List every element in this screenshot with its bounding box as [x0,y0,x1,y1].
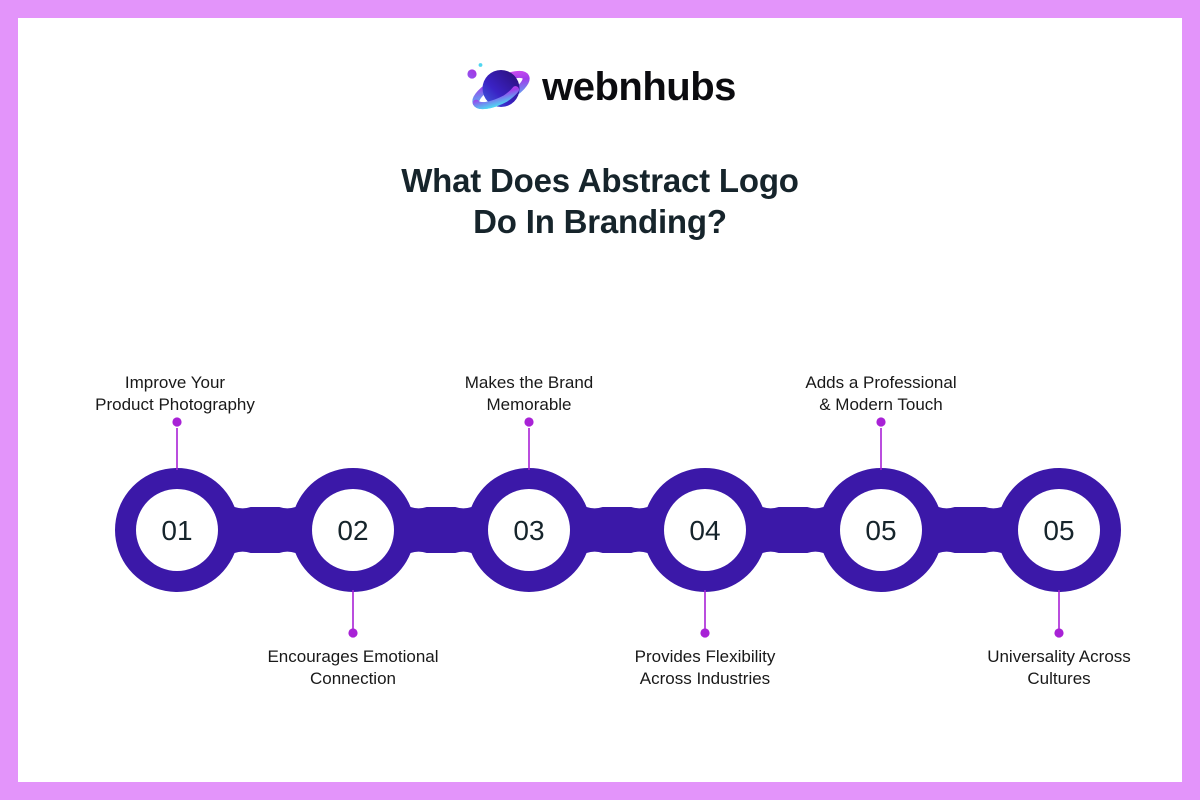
chain-outline [115,468,1121,592]
step-node-2[interactable] [312,489,394,571]
step-label-5-line-2: & Modern Touch [751,394,1011,416]
step-number-2: 02 [337,515,368,546]
step-label-5: Adds a Professional& Modern Touch [751,372,1011,416]
step-label-2-line-2: Connection [223,668,483,690]
step-label-1: Improve YourProduct Photography [45,372,305,416]
step-number-1: 01 [161,515,192,546]
connector-dot-3 [524,417,533,426]
step-label-3-line-2: Memorable [399,394,659,416]
step-label-4: Provides FlexibilityAcross Industries [575,646,835,690]
page-title-line-2: Do In Branding? [18,201,1182,242]
connector-dot-2 [348,628,357,637]
step-number-6: 05 [1043,515,1074,546]
step-number-3: 03 [513,515,544,546]
step-label-6-line-1: Universality Across [929,646,1182,668]
connector-dot-1 [172,417,181,426]
step-label-2: Encourages EmotionalConnection [223,646,483,690]
step-label-5-line-1: Adds a Professional [751,372,1011,394]
chain-connectors [172,417,1063,637]
page-title: What Does Abstract Logo Do In Branding? [18,160,1182,242]
step-node-6[interactable] [1018,489,1100,571]
step-label-2-line-1: Encourages Emotional [223,646,483,668]
connector-dot-5 [876,417,885,426]
brand-lockup: webnhubs [18,56,1182,118]
step-node-1[interactable] [136,489,218,571]
step-label-1-line-1: Improve Your [45,372,305,394]
step-label-4-line-2: Across Industries [575,668,835,690]
step-label-3: Makes the BrandMemorable [399,372,659,416]
step-number-4: 04 [689,515,720,546]
step-node-5[interactable] [840,489,922,571]
connector-dot-4 [700,628,709,637]
step-label-4-line-1: Provides Flexibility [575,646,835,668]
page-title-line-1: What Does Abstract Logo [18,160,1182,201]
chain-numbers: 010203040505 [161,515,1074,546]
step-label-6-line-2: Cultures [929,668,1182,690]
step-node-3[interactable] [488,489,570,571]
brand-name: webnhubs [542,67,736,107]
connector-dot-6 [1054,628,1063,637]
step-label-3-line-1: Makes the Brand [399,372,659,394]
infographic-frame: webnhubs What Does Abstract Logo Do In B… [0,0,1200,800]
planet-logo-icon [464,56,530,118]
infographic-canvas: webnhubs What Does Abstract Logo Do In B… [18,18,1182,782]
step-node-4[interactable] [664,489,746,571]
step-number-5: 05 [865,515,896,546]
step-label-6: Universality AcrossCultures [929,646,1182,690]
chain-shape [115,468,1121,592]
step-label-1-line-2: Product Photography [45,394,305,416]
